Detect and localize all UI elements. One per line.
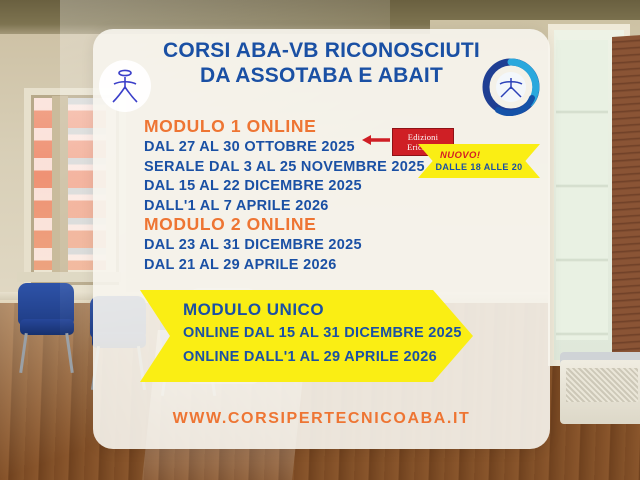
list-item: DAL 23 AL 31 DICEMBRE 2025 — [144, 236, 362, 256]
list-item: DAL 21 AL 29 APRILE 2026 — [144, 256, 362, 276]
modulo-unico-content: MODULO UNICO ONLINE DAL 15 AL 31 DICEMBR… — [183, 300, 463, 368]
modulo-unico-title: MODULO UNICO — [183, 300, 463, 320]
modulo-2-heading: MODULO 2 ONLINE — [144, 214, 316, 235]
list-item: SERALE DAL 3 AL 25 NOVEMBRE 2025 — [144, 158, 425, 178]
headline-line-2: DA ASSOTABA E ABAIT — [93, 63, 550, 88]
poster: CORSI ABA-VB RICONOSCIUTI DA ASSOTABA E … — [0, 0, 640, 480]
page-title: CORSI ABA-VB RICONOSCIUTI DA ASSOTABA E … — [93, 38, 550, 88]
headline-line-1: CORSI ABA-VB RICONOSCIUTI — [93, 38, 550, 63]
photo-right-shutter — [612, 35, 640, 355]
left-arrow-icon — [362, 135, 390, 145]
list-item: DAL 15 AL 22 DICEMBRE 2025 — [144, 177, 425, 197]
erickson-line-1: Edizioni — [408, 132, 438, 142]
nuovo-subtitle: DALLE 18 ALLE 20 — [435, 162, 522, 172]
nuovo-badge: NUOVO! DALLE 18 ALLE 20 — [418, 144, 540, 178]
photo-air-conditioner-grill — [566, 368, 638, 402]
list-item: ONLINE DAL 15 AL 31 DICEMBRE 2025 — [183, 323, 463, 344]
nuovo-title: NUOVO! — [440, 150, 480, 161]
website-url[interactable]: WWW.CORSIPERTECNICOABA.IT — [93, 410, 550, 428]
modulo-1-heading: MODULO 1 ONLINE — [144, 116, 316, 137]
photo-right-window-glass — [556, 40, 608, 340]
list-item: ONLINE DALL'1 AL 29 APRILE 2026 — [183, 347, 463, 368]
modulo-2-dates: DAL 23 AL 31 DICEMBRE 2025 DAL 21 AL 29 … — [144, 236, 362, 275]
